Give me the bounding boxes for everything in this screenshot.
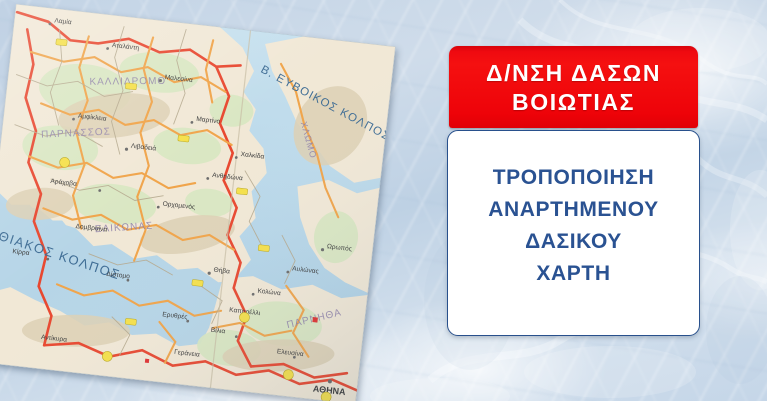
sign-block: Δ/ΝΣΗ ΔΑΣΩΝ ΒΟΙΩΤΙΑΣ ΤΡΟΠΟΠΟΙΗΣΗ ΑΝΑΡΤΗΜ… <box>447 46 700 336</box>
white-message-card: ΤΡΟΠΟΠΟΙΗΣΗ ΑΝΑΡΤΗΜΕΝΟΥ ΔΑΣΙΚΟΥ ΧΑΡΤΗ <box>447 130 700 336</box>
card-line-3: ΔΑΣΙΚΟΥ <box>525 226 622 258</box>
card-line-2: ΑΝΑΡΤΗΜΕΝΟΥ <box>488 194 659 226</box>
map-canvas: Β. ΕΥΒΟΙΚΟΣ ΚΟΛΠΟΣ ΘΙΑΚΟΣ ΚΟΛΠΟΣ ΚΑΛΛΙΔΡ… <box>0 4 396 401</box>
card-line-1: ΤΡΟΠΟΠΟΙΗΣΗ <box>493 162 655 194</box>
banner-line-1: Δ/ΝΣΗ ΔΑΣΩΝ <box>486 59 661 88</box>
banner-line-2: ΒΟΙΩΤΙΑΣ <box>512 88 635 117</box>
announcement-banner-image: Β. ΕΥΒΟΙΚΟΣ ΚΟΛΠΟΣ ΘΙΑΚΟΣ ΚΟΛΠΟΣ ΚΑΛΛΙΔΡ… <box>0 0 767 401</box>
card-line-4: ΧΑΡΤΗ <box>536 258 610 290</box>
red-header-banner: Δ/ΝΣΗ ΔΑΣΩΝ ΒΟΙΩΤΙΑΣ <box>449 46 698 128</box>
road-map-image: Β. ΕΥΒΟΙΚΟΣ ΚΟΛΠΟΣ ΘΙΑΚΟΣ ΚΟΛΠΟΣ ΚΑΛΛΙΔΡ… <box>0 4 396 401</box>
